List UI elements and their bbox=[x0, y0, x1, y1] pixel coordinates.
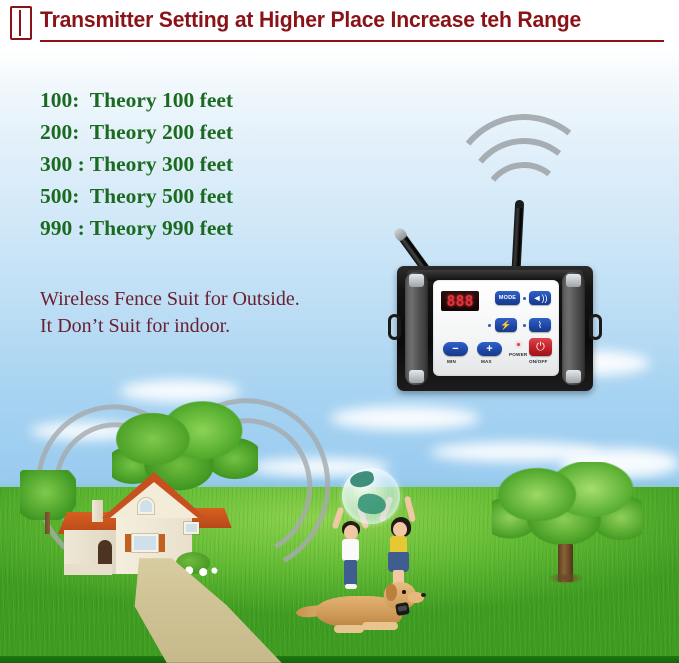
earth-globe bbox=[342, 468, 400, 524]
min-button-caption: MIN bbox=[447, 359, 456, 364]
range-row: 500: Theory 500 feet bbox=[40, 180, 233, 212]
speaker-icon[interactable]: ◄)) bbox=[529, 291, 551, 305]
max-button-caption: MAX bbox=[481, 359, 492, 364]
mounting-tab-left bbox=[388, 314, 401, 340]
mounting-tab-right bbox=[589, 314, 602, 340]
document-rectangle-icon bbox=[10, 6, 32, 40]
grip-cap bbox=[409, 274, 424, 287]
grip-cap bbox=[409, 370, 424, 383]
header-divider bbox=[40, 40, 664, 42]
tree-trunk bbox=[45, 512, 50, 534]
child-shirt bbox=[342, 539, 359, 561]
house-window-right bbox=[184, 522, 199, 534]
power-button-caption: ON/OFF bbox=[529, 359, 548, 364]
range-table: 100: Theory 100 feet 200: Theory 200 fee… bbox=[40, 84, 233, 244]
house-porch bbox=[64, 564, 112, 575]
range-row: 990 : Theory 990 feet bbox=[40, 212, 233, 244]
dog-rear-paw bbox=[334, 625, 364, 633]
range-row: 100: Theory 100 feet bbox=[40, 84, 233, 116]
tree-right bbox=[492, 462, 642, 584]
separator-dot bbox=[523, 297, 526, 300]
dog-nose bbox=[421, 593, 426, 597]
control-panel: 888 MODE ◄)) ⚡ ⌇ − bbox=[433, 280, 559, 376]
house-window-main bbox=[132, 534, 158, 552]
golden-retriever-dog bbox=[310, 578, 430, 638]
led-display: 888 bbox=[441, 291, 479, 311]
bottom-edge-strip bbox=[0, 656, 679, 663]
mode-button-label: MODE bbox=[499, 295, 516, 301]
child-skirt bbox=[388, 552, 409, 572]
page-title: Transmitter Setting at Higher Place Incr… bbox=[40, 7, 581, 33]
window-shutter-left bbox=[125, 534, 131, 552]
min-button-glyph: − bbox=[452, 344, 458, 355]
max-button[interactable]: + bbox=[477, 342, 502, 356]
house-gable-face bbox=[110, 482, 198, 518]
side-grip-left bbox=[405, 272, 428, 385]
led-display-value: 888 bbox=[446, 294, 473, 309]
window-shutter-right bbox=[159, 534, 165, 552]
max-button-glyph: + bbox=[486, 344, 492, 355]
grip-cap bbox=[566, 370, 581, 383]
range-row: 300 : Theory 300 feet bbox=[40, 148, 233, 180]
tree-trunk bbox=[558, 544, 573, 582]
lightning-bolt-icon[interactable]: ⚡ bbox=[495, 318, 517, 332]
usage-note: Wireless Fence Suit for Outside. It Don’… bbox=[40, 286, 300, 340]
transmitter-housing: 888 MODE ◄)) ⚡ ⌇ − bbox=[397, 266, 593, 391]
power-icon: ⏻ bbox=[536, 341, 545, 354]
usage-note-line: Wireless Fence Suit for Outside. bbox=[40, 286, 300, 313]
side-grip-right bbox=[562, 272, 585, 385]
product-infographic-page: Transmitter Setting at Higher Place Incr… bbox=[0, 0, 679, 663]
range-row: 200: Theory 200 feet bbox=[40, 116, 233, 148]
separator-dot bbox=[488, 324, 491, 327]
cloud-shape bbox=[330, 406, 480, 430]
house-window-attic bbox=[138, 498, 154, 514]
separator-dot bbox=[523, 324, 526, 327]
vibration-icon[interactable]: ⌇ bbox=[529, 318, 551, 332]
dog-front-paw bbox=[362, 622, 398, 630]
transmitter-device: 888 MODE ◄)) ⚡ ⌇ − bbox=[385, 100, 625, 400]
dog-eye bbox=[402, 590, 406, 594]
child-head bbox=[393, 522, 407, 537]
child-head bbox=[344, 525, 358, 540]
dog-receiver-collar bbox=[395, 602, 410, 616]
lightning-bolt-glyph: ⚡ bbox=[500, 320, 511, 331]
mode-button[interactable]: MODE bbox=[495, 291, 520, 305]
grip-cap bbox=[566, 274, 581, 287]
vibration-glyph: ⌇ bbox=[538, 320, 542, 331]
usage-note-line: It Don’t Suit for indoor. bbox=[40, 313, 300, 340]
speaker-glyph: ◄)) bbox=[533, 293, 548, 303]
power-led-indicator bbox=[517, 343, 520, 346]
min-button[interactable]: − bbox=[443, 342, 468, 356]
header-bar: Transmitter Setting at Higher Place Incr… bbox=[0, 0, 679, 50]
power-button[interactable]: ⏻ bbox=[529, 338, 552, 356]
power-led-caption: POWER bbox=[509, 352, 527, 357]
